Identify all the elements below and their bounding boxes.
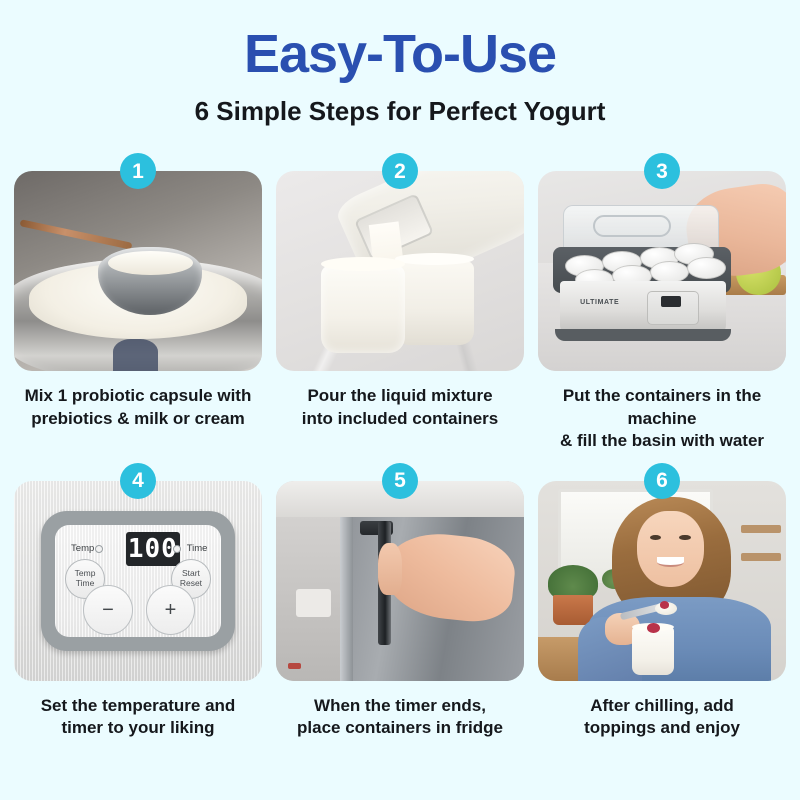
lid-handle bbox=[593, 215, 671, 237]
woman-face bbox=[637, 511, 704, 587]
woman-eye-left bbox=[650, 535, 661, 540]
red-detail bbox=[288, 663, 300, 669]
infographic-page: Easy-To-Use 6 Simple Steps for Perfect Y… bbox=[0, 0, 800, 800]
page-subtitle: 6 Simple Steps for Perfect Yogurt bbox=[0, 97, 800, 126]
led-display: 100 bbox=[126, 532, 181, 566]
machine-body bbox=[560, 281, 726, 335]
step-card-1: 1 Mix 1 probiotic capsule with prebiotic… bbox=[14, 153, 262, 452]
pot-shadow bbox=[113, 339, 158, 371]
plus-icon: + bbox=[165, 600, 177, 620]
step-card-4: 4 100 Temp Time Temp Time Start Reset bbox=[14, 463, 262, 740]
jar-7 bbox=[650, 261, 689, 283]
ladle-milk bbox=[108, 251, 192, 275]
step-number-badge-3: 3 bbox=[644, 153, 680, 189]
step-image-5 bbox=[276, 481, 524, 681]
step-card-2: 2 Pour the liquid mixture into included … bbox=[276, 153, 524, 452]
step-card-3: 3 ULTIMATE bbox=[538, 153, 786, 452]
white-appliance bbox=[296, 589, 331, 617]
step-image-3: ULTIMATE bbox=[538, 171, 786, 371]
fingers bbox=[378, 543, 403, 595]
step-number-badge-6: 6 bbox=[644, 463, 680, 499]
step-image-1 bbox=[14, 171, 262, 371]
step-caption-4: Set the temperature and timer to your li… bbox=[41, 695, 236, 740]
step-number-badge-5: 5 bbox=[382, 463, 418, 499]
woman-smile bbox=[657, 557, 684, 567]
step-caption-6: After chilling, add toppings and enjoy bbox=[584, 695, 740, 740]
machine-led-display bbox=[661, 296, 681, 307]
step-number-badge-4: 4 bbox=[120, 463, 156, 499]
time-indicator-label: Time bbox=[187, 543, 208, 554]
temp-indicator-label: Temp bbox=[71, 543, 94, 554]
berry-topping bbox=[647, 623, 659, 633]
temp-indicator-led bbox=[95, 545, 103, 553]
step-caption-3: Put the containers in the machine & fill… bbox=[538, 385, 786, 452]
spoon-berry bbox=[660, 601, 670, 609]
machine-base bbox=[555, 329, 731, 341]
step-image-2 bbox=[276, 171, 524, 371]
machine-brand-label: ULTIMATE bbox=[580, 299, 619, 306]
step-caption-1: Mix 1 probiotic capsule with prebiotics … bbox=[25, 385, 252, 430]
led-display-value: 100 bbox=[128, 536, 178, 562]
step-card-6: 6 bbox=[538, 463, 786, 740]
step-card-5: 5 When the timer ends, place containers … bbox=[276, 463, 524, 740]
woman-eye-right bbox=[679, 535, 690, 540]
temp-time-button-line2: Time bbox=[76, 579, 95, 589]
potted-plant-pot bbox=[553, 595, 593, 625]
step-image-6 bbox=[538, 481, 786, 681]
minus-icon: − bbox=[102, 600, 114, 620]
step-caption-2: Pour the liquid mixture into included co… bbox=[302, 385, 498, 430]
yogurt-jar-front bbox=[321, 265, 405, 353]
steps-grid: 1 Mix 1 probiotic capsule with prebiotic… bbox=[0, 153, 800, 739]
fridge-door-edge bbox=[340, 517, 352, 681]
wall-shelf-lower bbox=[741, 553, 781, 561]
page-title: Easy-To-Use bbox=[0, 26, 800, 83]
header: Easy-To-Use 6 Simple Steps for Perfect Y… bbox=[0, 0, 800, 125]
increase-button[interactable]: + bbox=[146, 585, 195, 635]
wall-shelf-upper bbox=[741, 525, 781, 533]
start-reset-button-line2: Reset bbox=[180, 579, 202, 589]
step-number-badge-1: 1 bbox=[120, 153, 156, 189]
step-image-4: 100 Temp Time Temp Time Start Reset − bbox=[14, 481, 262, 681]
decrease-button[interactable]: − bbox=[83, 585, 132, 635]
yogurt-jar bbox=[632, 627, 674, 675]
step-number-badge-2: 2 bbox=[382, 153, 418, 189]
yogurt-jar-back bbox=[395, 261, 474, 345]
step-caption-5: When the timer ends, place containers in… bbox=[297, 695, 503, 740]
